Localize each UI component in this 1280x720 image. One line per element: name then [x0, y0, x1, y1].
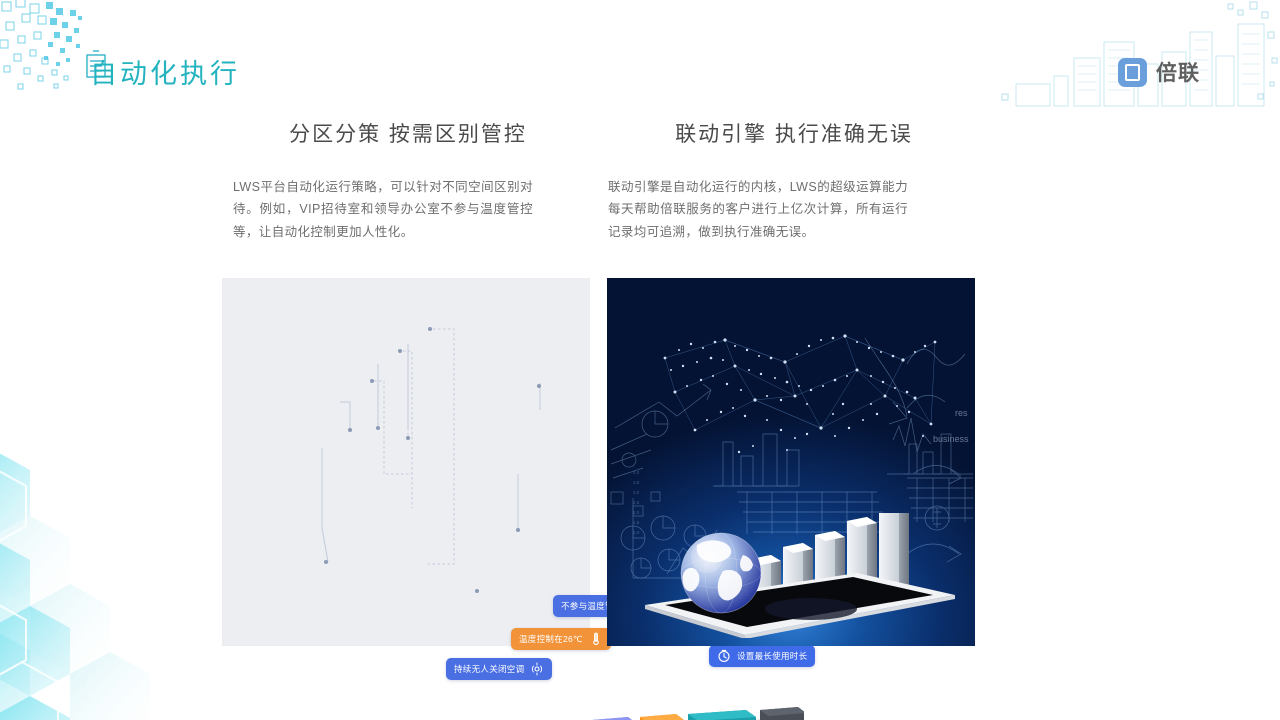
data-analytics-visual: res business 4.0 3.5 3.0 2.5 2.0 1.5 1.0: [607, 278, 975, 646]
annotation-res: res: [955, 408, 968, 418]
svg-text:3.0: 3.0: [633, 490, 640, 495]
chip-label: 持续无人关闭空调: [454, 663, 524, 675]
svg-text:3.5: 3.5: [633, 480, 640, 485]
chip-max-usage-duration[interactable]: 设置最长使用时长: [709, 645, 815, 667]
floorplan-diagram: [222, 278, 590, 646]
column-left: 分区分策 按需区别管控 LWS平台自动化运行策略，可以针对不同空间区别对待。例如…: [223, 118, 583, 243]
thermometer-icon: [589, 632, 603, 646]
brand-logo: 倍联: [1118, 57, 1200, 87]
room-elevator: 电梯间: [760, 707, 804, 720]
brand-name: 倍联: [1156, 57, 1200, 87]
column-left-heading: 分区分策 按需区别管控: [223, 118, 583, 148]
svg-text:4.0: 4.0: [633, 470, 640, 475]
column-right-heading: 联动引擎 执行准确无误: [605, 118, 965, 148]
square-logo-icon: [1118, 58, 1147, 87]
sensor-icon: [530, 662, 544, 676]
hexagon-pattern-icon: [0, 430, 210, 720]
page-title: 自动化执行: [90, 52, 240, 91]
svg-text:2.5: 2.5: [633, 500, 640, 505]
chip-temperature-26[interactable]: 温度控制在26℃: [511, 628, 611, 650]
annotation-business: business: [933, 434, 969, 444]
chip-label: 温度控制在26℃: [519, 633, 583, 645]
slide-canvas: 自动化执行 倍联 分区分策 按需区别管控 LWS平台自动化运行策略，可以针对不同…: [0, 0, 1280, 720]
chip-auto-shutdown-ac[interactable]: 持续无人关闭空调: [446, 658, 552, 680]
column-right-body: 联动引擎是自动化运行的内核，LWS的超级运算能力每天帮助倍联服务的客户进行上亿次…: [608, 176, 908, 243]
figure-floorplan: 办公区 卫生间 茶水间 设备间: [222, 278, 590, 646]
column-right: 联动引擎 执行准确无误 联动引擎是自动化运行的内核，LWS的超级运算能力每天帮助…: [605, 118, 965, 243]
tablet-globe-chart-icon: [625, 513, 961, 638]
figure-data-analytics: res business 4.0 3.5 3.0 2.5 2.0 1.5 1.0: [607, 278, 975, 646]
timer-icon: [717, 649, 731, 663]
column-left-body: LWS平台自动化运行策略，可以针对不同空间区别对待。例如，VIP招待室和领导办公…: [233, 176, 533, 243]
floorplan-3d: 办公区 卫生间 茶水间 设备间: [454, 702, 804, 720]
room-lounge: 休息间: [688, 710, 756, 720]
room-office: 办公室: [640, 714, 684, 720]
chip-label: 设置最长使用时长: [737, 650, 807, 662]
globe-icon: [681, 533, 761, 613]
